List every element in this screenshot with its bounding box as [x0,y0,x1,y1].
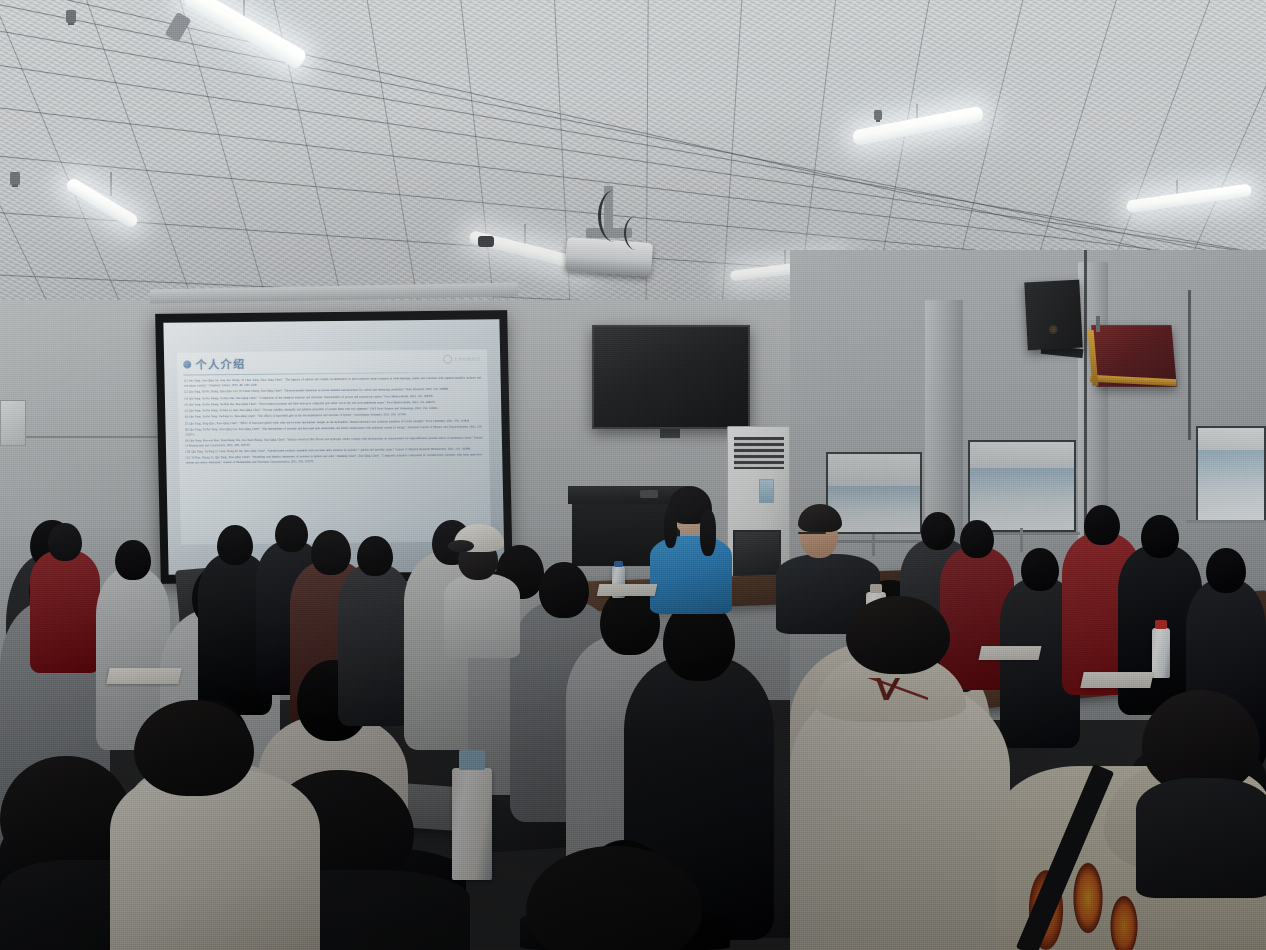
presentation-slide: 个人介绍 大学校徽标志 [1] Yan Yang, Guo-Qing Xu, J… [177,350,490,545]
window-far-right [1196,426,1266,522]
panelist-glasses [798,532,826,534]
panelist-hair [798,504,842,532]
audience-head [960,520,994,558]
audience-head [1084,505,1120,545]
foreground-white-knit-person [110,700,310,950]
sprinkler-head-1 [66,10,76,23]
audience-body [338,564,412,726]
bottle-cap [1155,620,1167,629]
lecture-hall-photo: 个人介绍 大学校徽标志 [1] Yan Yang, Guo-Qing Xu, J… [0,0,1266,950]
banner-hook [1096,316,1100,332]
conduit-pipe-2 [1188,290,1191,440]
fg-head-2 [526,846,702,950]
cap-person-body [444,574,520,658]
desktop-monitor [733,530,781,576]
ceiling-sensor [478,236,494,247]
papers-on-desk [106,668,181,684]
logo-mark-icon [443,355,452,364]
light-rod [524,224,526,244]
window-right [968,440,1076,532]
electrical-box [0,400,26,446]
logo-text: 大学校徽标志 [454,356,481,362]
knit-body [110,770,320,950]
knit-head [134,700,254,796]
foreground-right-person [1136,690,1266,890]
white-cap-person [444,518,516,648]
water-bottle-red-label[interactable] [1152,628,1170,678]
reference-list: [1] Yan Yang, Guo-Qing Xu, Jing Xin Zhan… [184,376,483,466]
university-logo: 大学校徽标志 [443,355,481,364]
foreground-center-person [508,846,738,950]
presenter-body [650,536,732,614]
blue-dot-icon [184,361,192,369]
audience-head [115,540,151,580]
audience-head [1021,548,1059,591]
audience-body [30,550,100,673]
sprinkler-head-2 [10,172,20,185]
presenter-hair-strand-left [664,508,677,548]
sprinkler-head-3 [874,110,882,120]
wall-speaker [1024,280,1082,351]
bottle-cap [614,561,622,567]
light-rod [1176,180,1178,194]
cap-brim [448,540,474,552]
hoodie-person-head [846,596,950,674]
audience-head [48,523,82,561]
hoodie-red-script [842,678,928,700]
audience-member [30,523,100,673]
slide-header: 个人介绍 大学校徽标志 [184,354,481,373]
tv-stand [660,429,680,438]
audience-member [338,536,412,726]
reference-item: [11] Yi-Nan, Huang Ji, Qin Yang, Xiao-Qi… [186,453,483,466]
wall-mounted-tv [592,325,750,429]
ac-vent [734,437,784,469]
window-glass-far [1198,450,1264,520]
audience-head [217,525,253,565]
projector-cable-2 [624,216,648,250]
bottle-cap [870,584,883,593]
ac-display-panel[interactable] [759,479,774,503]
presenter-hair-strand [700,510,716,556]
right-person-body [1136,778,1266,898]
audience-head [1206,548,1246,593]
papers-on-desk [1080,672,1153,688]
foreground-cream-hoodie [790,596,1010,950]
light-rod [110,172,112,196]
slide-title: 个人介绍 [196,356,246,373]
speaker-cone-icon [1049,325,1058,334]
presenter [648,484,734,604]
audience-head [1141,515,1179,558]
conduit-pipe [1084,250,1087,540]
audience-head [357,536,393,576]
papers-on-desk [597,584,658,596]
bottle-cap [459,750,485,770]
wall-trim [0,436,180,438]
